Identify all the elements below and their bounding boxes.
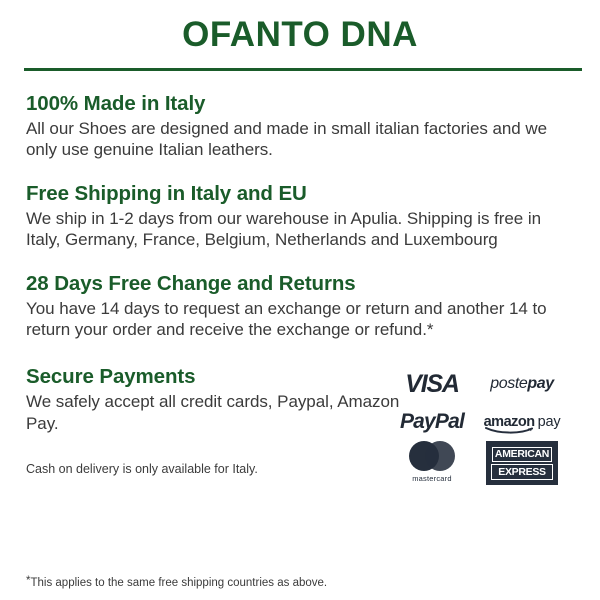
section-body: We safely accept all credit cards, Paypa… [26,391,426,435]
sections-list: 100% Made in Italy All our Shoes are des… [0,92,600,478]
title-divider [24,68,582,71]
postepay-label-bold: pay [527,375,553,392]
ofanto-dna-info-panel: OFANTO DNA 100% Made in Italy All our Sh… [0,0,600,600]
section-made-in-italy: 100% Made in Italy All our Shoes are des… [26,92,580,161]
mastercard-circle-right [425,441,455,471]
footnote: *This applies to the same free shipping … [26,574,327,591]
payment-logo-row: VISA postepay [386,365,566,403]
mastercard-label: mastercard [412,474,452,483]
amex-line-1: AMERICAN [492,447,552,463]
amazon-wordmark: amazon [484,415,535,430]
section-heading: 28 Days Free Change and Returns [26,272,580,296]
amazon-pay-icon: amazonpay [484,415,561,430]
american-express-logo-cell: AMERICAN EXPRESS [478,441,566,485]
section-body: All our Shoes are designed and made in s… [26,118,580,162]
section-free-shipping: Free Shipping in Italy and EU We ship in… [26,182,580,251]
payment-logo-row: mastercard AMERICAN EXPRESS [386,441,566,493]
section-returns: 28 Days Free Change and Returns You have… [26,272,580,341]
paypal-logo-cell: PayPal [386,410,478,434]
footnote-text: This applies to the same free shipping c… [30,577,327,589]
amex-line-2: EXPRESS [491,464,553,480]
paypal-icon: PayPal [400,410,464,434]
page-title: OFANTO DNA [0,0,600,52]
section-heading: Secure Payments [26,365,426,389]
payments-text-block: Secure Payments We safely accept all cre… [26,365,426,477]
postepay-label-light: poste [490,375,527,392]
mastercard-icon: mastercard [409,441,455,483]
cash-on-delivery-note: Cash on delivery is only available for I… [26,461,426,477]
amazon-pay-label: pay [538,414,561,430]
section-heading: Free Shipping in Italy and EU [26,182,580,206]
amazon-smile-arrow-icon [485,427,535,434]
mastercard-circles [409,441,455,471]
payment-logo-row: PayPal amazonpay [386,403,566,441]
section-heading: 100% Made in Italy [26,92,580,116]
amazon-pay-logo-cell: amazonpay [478,415,566,430]
payment-logos: VISA postepay PayPal amazonpay [386,365,566,493]
section-secure-payments: Secure Payments We safely accept all cre… [26,365,580,477]
visa-icon: VISA [405,370,459,399]
visa-logo-cell: VISA [386,370,478,399]
postepay-icon: postepay [490,375,554,393]
section-body: We ship in 1-2 days from our warehouse i… [26,208,580,252]
mastercard-logo-cell: mastercard [386,441,478,483]
section-body: You have 14 days to request an exchange … [26,298,580,342]
postepay-logo-cell: postepay [478,375,566,393]
american-express-icon: AMERICAN EXPRESS [486,441,558,485]
